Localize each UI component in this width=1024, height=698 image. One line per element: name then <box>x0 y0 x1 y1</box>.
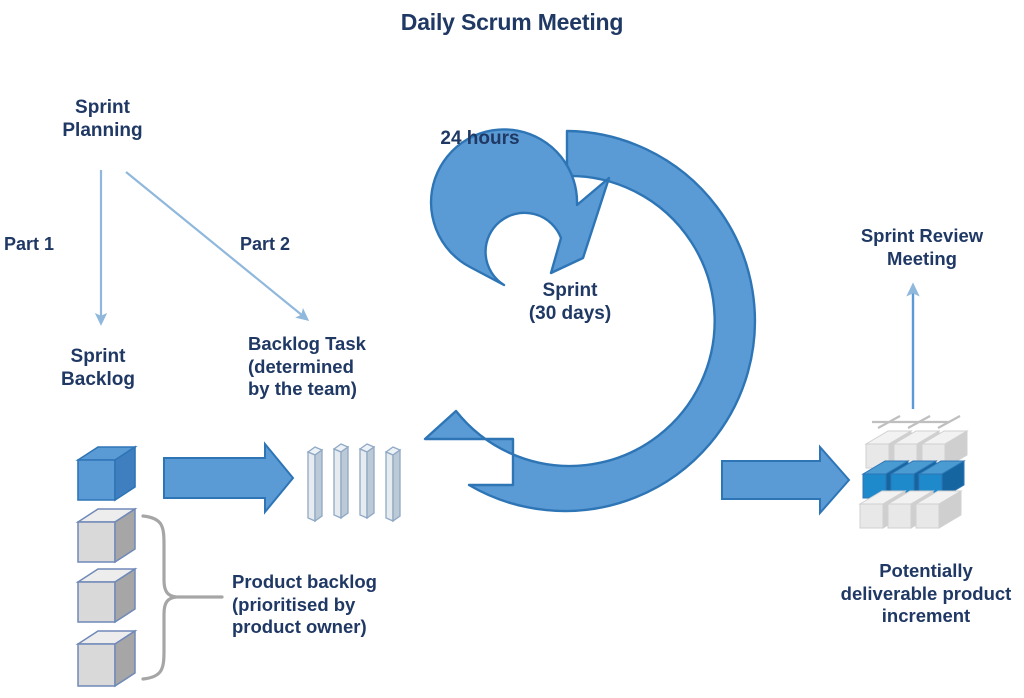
label-deliverable-increment: Potentially deliverable product incremen… <box>828 560 1024 628</box>
label-backlog-task: Backlog Task (determined by the team) <box>248 333 408 401</box>
label-sprint-planning: Sprint Planning <box>20 96 185 142</box>
label-sprint-30-days: Sprint (30 days) <box>480 279 660 325</box>
cube-stack-icon <box>78 447 135 686</box>
label-sprint-review-meeting: Sprint Review Meeting <box>822 225 1022 270</box>
scrum-process-diagram: Daily Scrum Meeting Sprint Planning Part… <box>0 0 1024 698</box>
page-title: Daily Scrum Meeting <box>0 8 1024 36</box>
label-part-2: Part 2 <box>240 234 340 256</box>
block-right-arrow-icon-right <box>722 447 849 513</box>
curly-brace-icon <box>143 516 222 679</box>
cube-cluster-icon <box>860 416 967 528</box>
label-part-1: Part 1 <box>4 234 90 256</box>
card-stack-icon <box>308 444 400 521</box>
label-24-hours: 24 hours <box>420 127 540 150</box>
label-sprint-backlog: Sprint Backlog <box>18 345 178 391</box>
label-product-backlog: Product backlog (prioritised by product … <box>232 571 432 639</box>
block-right-arrow-icon <box>164 444 293 512</box>
